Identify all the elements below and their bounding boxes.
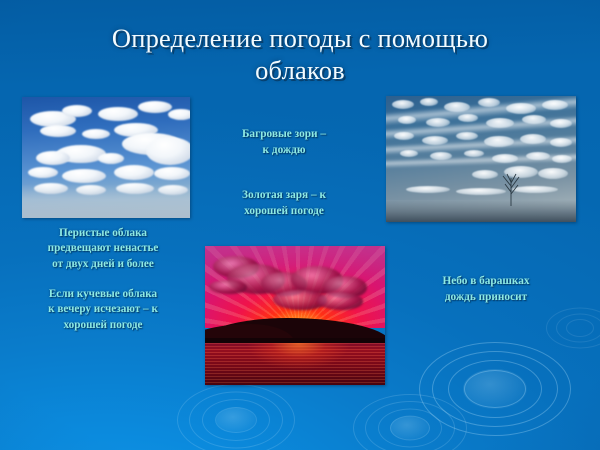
horizon-haze [22,184,190,218]
page-title: Определение погоды с помощью облаков [30,22,570,86]
horizon-band [386,200,576,222]
fleecy-sky-caption: Небо в барашках дождь приносит [398,274,574,306]
fleecy-sky-photo [386,96,576,222]
water-reflection [205,343,385,385]
tree-silhouette-icon [498,172,524,206]
cumulus-clouds-caption: Если кучевые облака к вечеру исчезают – … [14,287,192,333]
presentation-slide: Определение погоды с помощью облаков [0,0,600,450]
crimson-sunset-photo [205,246,385,385]
cirrus-clouds-caption: Перистые облака предвещают ненастье от д… [14,226,192,272]
cumulus-clouds-photo [22,97,190,218]
golden-dawn-caption: Золотая заря – к хорошей погоде [196,188,372,220]
crimson-dawn-caption: Багровые зори – к дождю [196,127,372,159]
